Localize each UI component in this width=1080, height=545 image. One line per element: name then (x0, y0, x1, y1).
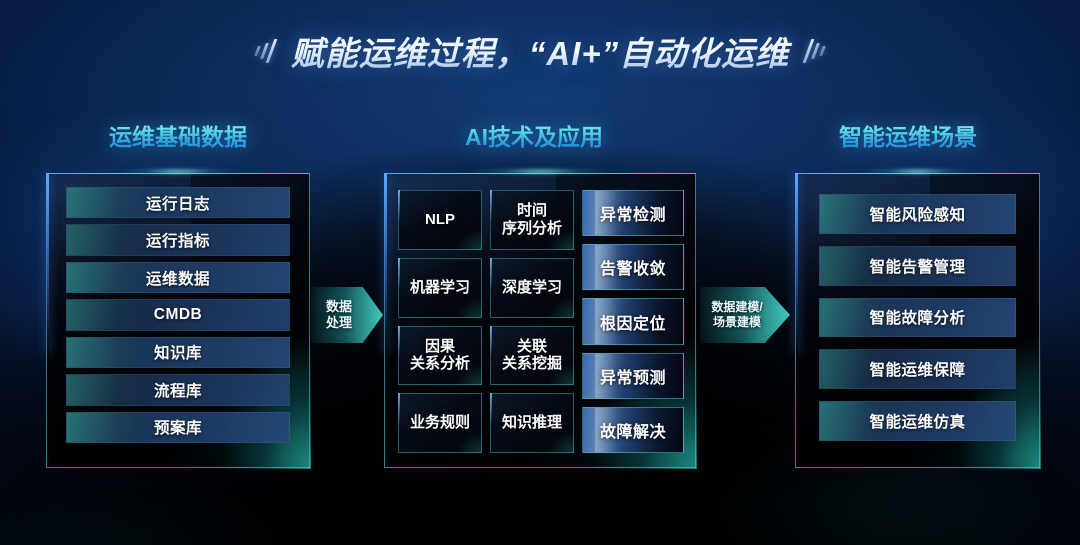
list-item[interactable]: 知识库 (66, 337, 290, 368)
outcome-item[interactable]: 异常检测 (582, 190, 684, 236)
grid-cell[interactable]: 时间 序列分析 (490, 190, 574, 250)
slide-title-bar: 赋能运维过程，“AI+”自动化运维 (0, 22, 1080, 80)
right-item-list: 智能风险感知 智能告警管理 智能故障分析 智能运维保障 智能运维仿真 (796, 174, 1039, 467)
grid-cell[interactable]: 因果 关系分析 (398, 326, 482, 386)
outcome-item[interactable]: 告警收敛 (582, 244, 684, 290)
arrow-label-line2: 处理 (326, 315, 352, 331)
grid-cell-line1: 业务规则 (410, 414, 470, 431)
outcome-label: 异常检测 (600, 201, 666, 225)
grid-cell-line1: NLP (425, 211, 455, 228)
arrow-label-line2: 场景建模 (713, 315, 761, 330)
title-decoration-right-icon (807, 34, 824, 68)
list-item[interactable]: 预案库 (66, 412, 290, 443)
list-item[interactable]: 智能风险感知 (819, 194, 1016, 234)
outcome-item[interactable]: 异常预测 (582, 353, 684, 399)
grid-cell-line2: 关系挖掘 (502, 355, 562, 372)
list-item[interactable]: CMDB (66, 299, 290, 330)
outcome-item[interactable]: 根因定位 (582, 298, 684, 344)
grid-cell[interactable]: 知识推理 (490, 393, 574, 453)
column-heading-left: 运维基础数据 (109, 118, 247, 152)
outcome-item[interactable]: 故障解决 (582, 407, 684, 453)
page-title: 赋能运维过程，“AI+”自动化运维 (287, 27, 793, 75)
arrow-data-scene-modeling: 数据建模/ 场景建模 (700, 287, 790, 343)
grid-cell[interactable]: NLP (398, 190, 482, 250)
grid-cell-line2: 序列分析 (502, 220, 562, 237)
column-heading-right: 智能运维场景 (839, 118, 977, 152)
list-item[interactable]: 智能告警管理 (819, 246, 1016, 286)
column-heading-middle: AI技术及应用 (465, 118, 603, 152)
panel-ops-base-data: 运行日志 运行指标 运维数据 CMDB 知识库 流程库 预案库 (46, 173, 310, 468)
grid-cell-line1: 深度学习 (502, 279, 562, 296)
arrow-data-processing: 数据 处理 (311, 287, 383, 343)
list-item[interactable]: 智能运维保障 (819, 349, 1016, 389)
left-item-list: 运行日志 运行指标 运维数据 CMDB 知识库 流程库 预案库 (47, 174, 309, 467)
panel-ai-tech: NLP 时间 序列分析 机器学习 深度学习 因果 关系分析 关联 关系挖掘 业务… (384, 173, 696, 468)
list-item[interactable]: 智能运维仿真 (819, 401, 1016, 441)
grid-cell[interactable]: 深度学习 (490, 258, 574, 318)
panel-intelligent-ops-scenes: 智能风险感知 智能告警管理 智能故障分析 智能运维保障 智能运维仿真 (795, 173, 1040, 468)
outcome-label: 故障解决 (600, 418, 666, 442)
grid-cell-line1: 因果 (425, 338, 455, 355)
grid-cell[interactable]: 关联 关系挖掘 (490, 326, 574, 386)
grid-cell-line1: 时间 (517, 202, 547, 219)
outcome-label: 告警收敛 (600, 255, 666, 279)
outcome-label: 根因定位 (600, 310, 666, 334)
arrow-label-line1: 数据建模/ (711, 300, 762, 315)
grid-cell-line1: 知识推理 (502, 414, 562, 431)
list-item[interactable]: 智能故障分析 (819, 298, 1016, 338)
ai-technique-grid: NLP 时间 序列分析 机器学习 深度学习 因果 关系分析 关联 关系挖掘 业务… (398, 190, 574, 453)
list-item[interactable]: 运行日志 (66, 187, 290, 218)
grid-cell-line1: 关联 (517, 338, 547, 355)
list-item[interactable]: 运行指标 (66, 224, 290, 255)
list-item[interactable]: 运维数据 (66, 262, 290, 293)
list-item[interactable]: 流程库 (66, 374, 290, 405)
title-decoration-left-icon (256, 34, 273, 68)
grid-cell-line2: 关系分析 (410, 355, 470, 372)
outcome-label: 异常预测 (600, 364, 666, 388)
arrow-label-line1: 数据 (326, 299, 352, 315)
ai-outcome-list: 异常检测 告警收敛 根因定位 异常预测 故障解决 (582, 190, 684, 453)
grid-cell[interactable]: 机器学习 (398, 258, 482, 318)
grid-cell[interactable]: 业务规则 (398, 393, 482, 453)
grid-cell-line1: 机器学习 (410, 279, 470, 296)
